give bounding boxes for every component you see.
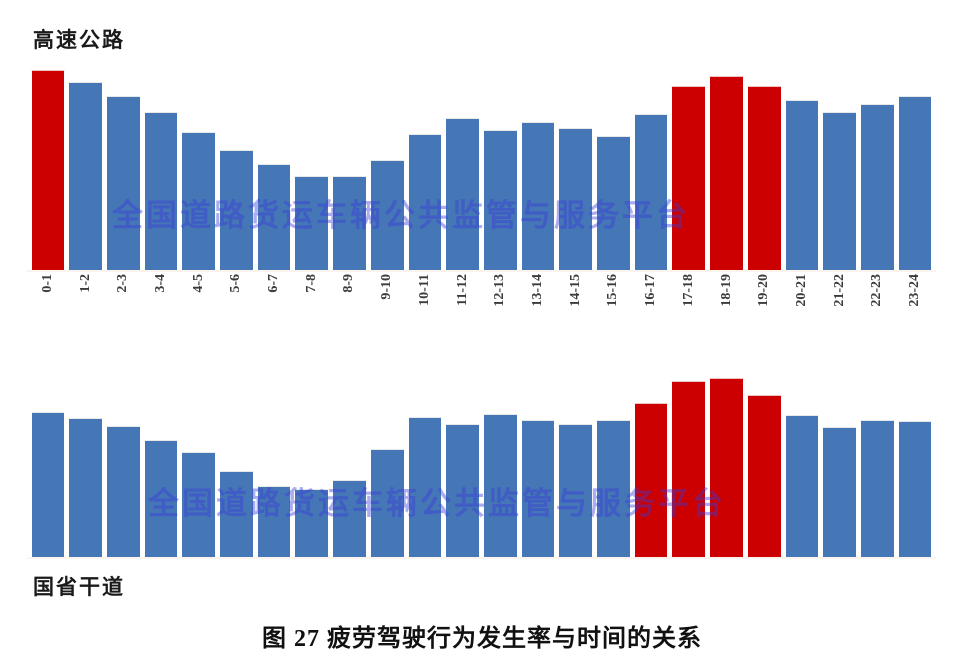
bar-slot: [595, 70, 633, 270]
bar-6-7[interactable]: [257, 164, 292, 270]
figure-caption: 图 27 疲劳驾驶行为发生率与时间的关系: [0, 618, 964, 653]
x-tick-label-3-4: 3-4: [153, 274, 169, 293]
tick-slot: 22-23: [858, 272, 896, 328]
chart-national-road: [29, 375, 934, 557]
x-tick-label-4-5: 4-5: [191, 274, 207, 293]
bar-slot: [255, 70, 293, 270]
tick-slot: 15-16: [595, 272, 633, 328]
tick-slot: 21-22: [821, 272, 859, 328]
bar-slot: [406, 375, 444, 557]
bar-slot: [783, 375, 821, 557]
bar-1-2[interactable]: [68, 82, 103, 270]
tick-slot: 6-7: [255, 272, 293, 328]
x-tick-label-0-1: 0-1: [40, 274, 56, 293]
x-tick-label-1-2: 1-2: [78, 274, 94, 293]
bar-group-national-road: [29, 375, 934, 557]
bar-23-24[interactable]: [898, 96, 933, 270]
bar-slot: [444, 375, 482, 557]
bar-15-16[interactable]: [596, 420, 631, 557]
x-tick-label-20-21: 20-21: [794, 274, 810, 307]
tick-slot: 9-10: [368, 272, 406, 328]
bar-slot: [821, 70, 859, 270]
bar-slot: [670, 70, 708, 270]
x-tick-label-8-9: 8-9: [341, 274, 357, 293]
bar-14-15[interactable]: [558, 424, 593, 557]
tick-slot: 19-20: [745, 272, 783, 328]
tick-slot: 0-1: [29, 272, 67, 328]
bar-slot: [67, 375, 105, 557]
bar-21-22[interactable]: [822, 112, 857, 270]
tick-slot: 12-13: [481, 272, 519, 328]
bar-slot: [481, 70, 519, 270]
bar-slot: [142, 375, 180, 557]
x-tick-label-19-20: 19-20: [756, 274, 772, 307]
bar-0-1[interactable]: [31, 412, 66, 557]
bar-slot: [29, 70, 67, 270]
tick-slot: 5-6: [218, 272, 256, 328]
tick-slot: 13-14: [519, 272, 557, 328]
bar-slot: [180, 70, 218, 270]
bar-slot: [783, 70, 821, 270]
bar-3-4[interactable]: [144, 112, 179, 270]
x-tick-label-7-8: 7-8: [304, 274, 320, 293]
bar-19-20[interactable]: [747, 86, 782, 270]
bar-slot: [519, 70, 557, 270]
bar-slot: [595, 375, 633, 557]
x-tick-label-23-24: 23-24: [907, 274, 923, 307]
x-tick-label-2-3: 2-3: [115, 274, 131, 293]
bar-slot: [670, 375, 708, 557]
bar-8-9[interactable]: [332, 480, 367, 557]
bar-slot: [67, 70, 105, 270]
bar-slot: [858, 375, 896, 557]
bar-slot: [444, 70, 482, 270]
bar-19-20[interactable]: [747, 395, 782, 557]
bar-18-19[interactable]: [709, 76, 744, 270]
bar-7-8[interactable]: [294, 489, 329, 557]
bar-slot: [293, 70, 331, 270]
bar-slot: [406, 70, 444, 270]
tick-slot: 16-17: [632, 272, 670, 328]
bar-9-10[interactable]: [370, 160, 405, 270]
x-tick-label-15-16: 15-16: [605, 274, 621, 307]
x-tick-label-14-15: 14-15: [568, 274, 584, 307]
bar-slot: [218, 375, 256, 557]
bar-2-3[interactable]: [106, 426, 141, 557]
x-tick-label-18-19: 18-19: [719, 274, 735, 307]
tick-slot: 7-8: [293, 272, 331, 328]
x-tick-label-21-22: 21-22: [832, 274, 848, 307]
x-tick-label-6-7: 6-7: [266, 274, 282, 293]
bar-2-3[interactable]: [106, 96, 141, 270]
bar-14-15[interactable]: [558, 128, 593, 270]
bar-7-8[interactable]: [294, 176, 329, 270]
tick-slot: 3-4: [142, 272, 180, 328]
x-tick-label-10-11: 10-11: [417, 274, 433, 306]
bar-slot: [180, 375, 218, 557]
bar-slot: [557, 70, 595, 270]
bar-slot: [708, 375, 746, 557]
bar-slot: [331, 375, 369, 557]
bar-slot: [708, 70, 746, 270]
bar-11-12[interactable]: [445, 118, 480, 270]
bar-slot: [104, 70, 142, 270]
bar-20-21[interactable]: [785, 100, 820, 270]
bar-1-2[interactable]: [68, 418, 103, 557]
bar-3-4[interactable]: [144, 440, 179, 557]
x-tick-label-11-12: 11-12: [455, 274, 471, 306]
bar-slot: [896, 375, 934, 557]
bar-15-16[interactable]: [596, 136, 631, 270]
bar-slot: [218, 70, 256, 270]
bar-0-1[interactable]: [31, 70, 66, 270]
bar-18-19[interactable]: [709, 378, 744, 557]
bar-slot: [896, 70, 934, 270]
x-tick-label-16-17: 16-17: [643, 274, 659, 307]
bar-16-17[interactable]: [634, 114, 669, 270]
chart-highway: [29, 70, 934, 270]
bar-slot: [745, 375, 783, 557]
bar-6-7[interactable]: [257, 486, 292, 557]
x-axis-highway: 0-11-22-33-44-55-66-77-88-99-1010-1111-1…: [29, 272, 934, 328]
bar-21-22[interactable]: [822, 427, 857, 557]
bar-slot: [104, 375, 142, 557]
tick-slot: 1-2: [67, 272, 105, 328]
tick-slot: 4-5: [180, 272, 218, 328]
tick-slot: 20-21: [783, 272, 821, 328]
bar-slot: [557, 375, 595, 557]
bar-4-5[interactable]: [181, 452, 216, 557]
tick-slot: 17-18: [670, 272, 708, 328]
figure-container: 高速公路 0-11-22-33-44-55-66-77-88-99-1010-1…: [0, 0, 964, 665]
bar-slot: [331, 70, 369, 270]
x-tick-label-9-10: 9-10: [379, 274, 395, 300]
bar-10-11[interactable]: [408, 417, 443, 557]
bar-12-13[interactable]: [483, 130, 518, 270]
plot-area-national-road: [29, 375, 934, 557]
bar-slot: [858, 70, 896, 270]
bar-10-11[interactable]: [408, 134, 443, 270]
bar-slot: [368, 375, 406, 557]
x-tick-label-22-23: 22-23: [869, 274, 885, 307]
baseline-national-road: [27, 557, 936, 559]
tick-slot: 11-12: [444, 272, 482, 328]
bar-slot: [481, 375, 519, 557]
bar-slot: [368, 70, 406, 270]
bar-5-6[interactable]: [219, 150, 254, 270]
x-tick-label-17-18: 17-18: [681, 274, 697, 307]
tick-slot: 10-11: [406, 272, 444, 328]
bar-13-14[interactable]: [521, 420, 556, 557]
bar-4-5[interactable]: [181, 132, 216, 270]
x-tick-label-13-14: 13-14: [530, 274, 546, 307]
bar-8-9[interactable]: [332, 176, 367, 270]
bar-group-highway: [29, 70, 934, 270]
bar-slot: [142, 70, 180, 270]
tick-slot: 18-19: [708, 272, 746, 328]
bar-slot: [821, 375, 859, 557]
bar-22-23[interactable]: [860, 420, 895, 557]
bar-17-18[interactable]: [671, 86, 706, 270]
tick-slot: 14-15: [557, 272, 595, 328]
panel-title-national-road: 国省干道: [33, 571, 125, 601]
x-tick-label-5-6: 5-6: [228, 274, 244, 293]
bar-slot: [519, 375, 557, 557]
bar-23-24[interactable]: [898, 421, 933, 557]
bar-22-23[interactable]: [860, 104, 895, 270]
panel-title-highway: 高速公路: [33, 24, 125, 54]
bar-9-10[interactable]: [370, 449, 405, 557]
tick-slot: 2-3: [104, 272, 142, 328]
bar-20-21[interactable]: [785, 415, 820, 557]
bar-slot: [745, 70, 783, 270]
bar-5-6[interactable]: [219, 471, 254, 557]
plot-area-highway: [29, 70, 934, 270]
bar-17-18[interactable]: [671, 381, 706, 557]
x-tick-label-12-13: 12-13: [492, 274, 508, 307]
bar-slot: [632, 375, 670, 557]
bar-slot: [293, 375, 331, 557]
bar-slot: [632, 70, 670, 270]
bar-slot: [29, 375, 67, 557]
bar-13-14[interactable]: [521, 122, 556, 270]
bar-12-13[interactable]: [483, 414, 518, 557]
bar-16-17[interactable]: [634, 403, 669, 557]
tick-slot: 23-24: [896, 272, 934, 328]
bar-11-12[interactable]: [445, 424, 480, 557]
tick-slot: 8-9: [331, 272, 369, 328]
bar-slot: [255, 375, 293, 557]
